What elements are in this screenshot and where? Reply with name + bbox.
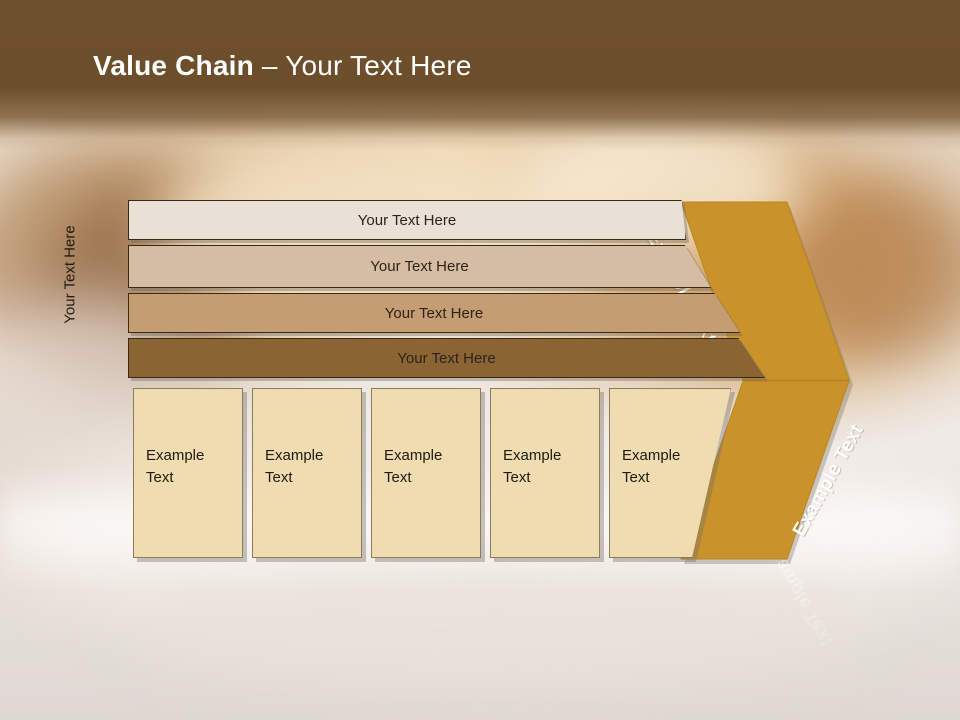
pyramid-bar-3[interactable]: Your Text Here	[128, 293, 740, 333]
example-box-line2: Text	[146, 467, 204, 489]
reflection-arrow-label: Example Text	[760, 560, 838, 650]
example-box-text: Example Text	[503, 445, 561, 489]
example-box-text: Example Text	[265, 445, 323, 489]
example-box-line2: Text	[503, 467, 561, 489]
example-box-4[interactable]: Example Text	[490, 388, 600, 558]
example-box-3[interactable]: Example Text	[371, 388, 481, 558]
example-box-line1: Example	[622, 445, 680, 467]
example-box-line1: Example	[503, 445, 561, 467]
pyramid-bar-body: Your Text Here	[128, 245, 711, 288]
example-box-line1: Example	[384, 445, 442, 467]
example-box-line2: Text	[622, 467, 680, 489]
example-box-line2: Text	[384, 467, 442, 489]
pyramid-bar-body: Your Text Here	[128, 200, 686, 240]
pyramid-bar-label: Your Text Here	[385, 305, 483, 322]
reflection-group: Example Text Example Text Example Text E…	[0, 560, 960, 720]
pyramid-bar-body: Your Text Here	[128, 338, 765, 378]
pyramid-bar-label: Your Text Here	[397, 350, 495, 367]
pyramid-bar-1[interactable]: Your Text Here	[128, 200, 686, 240]
slide-canvas: Value Chain – Your Text Here Example Tex…	[0, 0, 960, 720]
example-box-line1: Example	[146, 445, 204, 467]
example-box-text: Example Text	[146, 445, 204, 489]
pyramid-bar-4[interactable]: Your Text Here	[128, 338, 765, 378]
pyramid-bar-label: Your Text Here	[370, 258, 468, 275]
pyramid-bar-2[interactable]: Your Text Here	[128, 245, 711, 288]
example-box-2[interactable]: Example Text	[252, 388, 362, 558]
example-box-text: Example Text	[384, 445, 442, 489]
pyramid-bar-label: Your Text Here	[358, 212, 456, 229]
example-box-line2: Text	[265, 467, 323, 489]
example-box-1[interactable]: Example Text	[133, 388, 243, 558]
example-box-text: Example Text	[622, 445, 680, 489]
pyramid-bar-body: Your Text Here	[128, 293, 740, 333]
example-box-line1: Example	[265, 445, 323, 467]
